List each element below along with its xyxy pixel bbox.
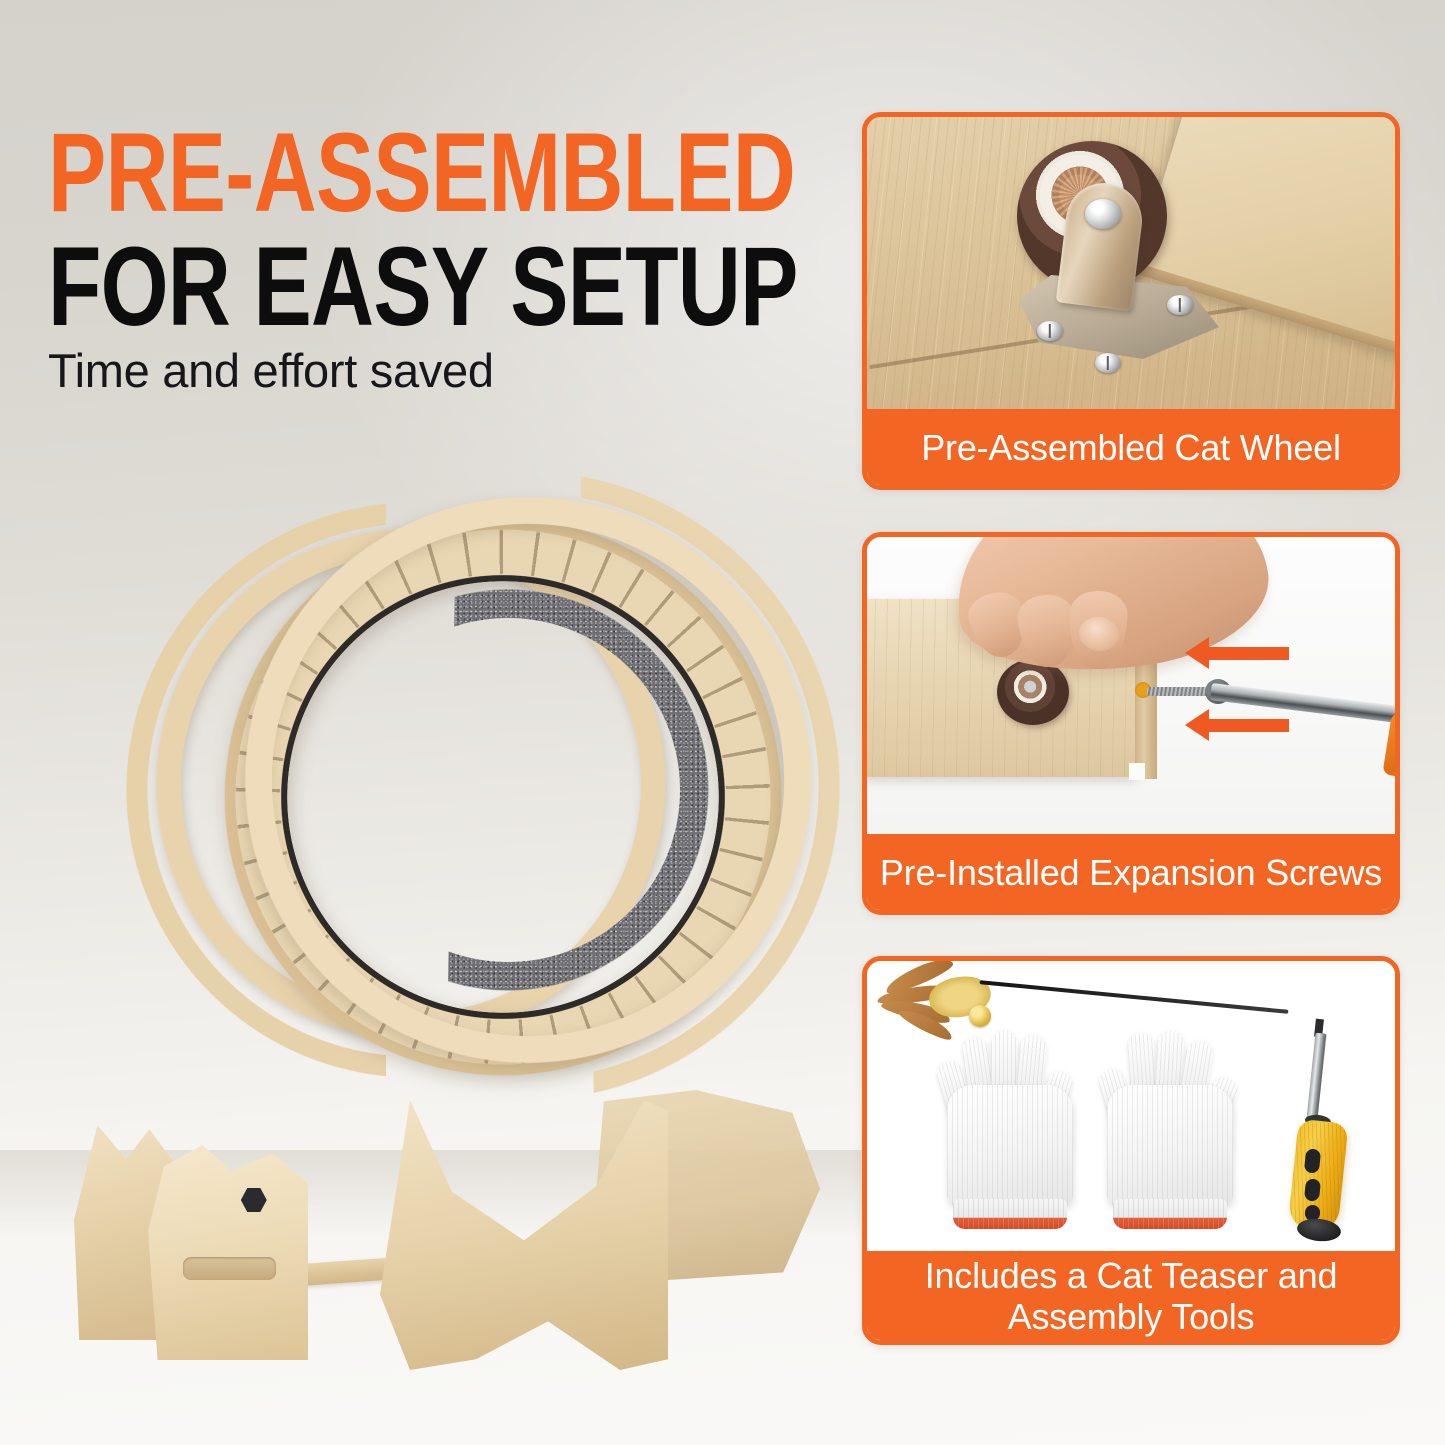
front-side-ring bbox=[198, 430, 858, 1130]
headline-line-2: FOR EASY SETUP bbox=[48, 232, 664, 342]
caption-line: Pre-Assembled Cat Wheel bbox=[921, 428, 1341, 468]
callout-card-cat-wheel: Pre-Assembled Cat Wheel bbox=[862, 112, 1400, 490]
work-glove-left bbox=[939, 1031, 1087, 1229]
expansion-screw-photo bbox=[867, 537, 1395, 834]
glove-cuff bbox=[953, 1199, 1067, 1229]
base-stand-mid bbox=[148, 1145, 308, 1360]
card-caption-accessories: Includes a Cat Teaser and Assembly Tools bbox=[867, 1251, 1395, 1342]
direction-arrow-icon bbox=[1207, 647, 1289, 660]
headline-subtitle: Time and effort saved bbox=[48, 343, 494, 398]
cat-exercise-wheel-photo bbox=[30, 400, 860, 1410]
direction-arrow-icon bbox=[1207, 719, 1289, 732]
headline-line-1: PRE-ASSEMBLED bbox=[48, 118, 664, 228]
card-caption-cat-wheel: Pre-Assembled Cat Wheel bbox=[867, 409, 1395, 487]
caption-line: Assembly Tools bbox=[925, 1297, 1338, 1337]
glove-cuff bbox=[1113, 1199, 1227, 1229]
hex-knob-icon bbox=[241, 1188, 267, 1212]
caption-line: Pre-Installed Expansion Screws bbox=[880, 853, 1382, 893]
mounting-screw bbox=[1095, 353, 1121, 373]
roller-wheel-icon bbox=[997, 659, 1069, 725]
screwdriver-shaft bbox=[1307, 1033, 1327, 1120]
glove-palm bbox=[1107, 1085, 1233, 1207]
phillips-screwdriver bbox=[1285, 1019, 1349, 1229]
work-glove-right bbox=[1099, 1031, 1247, 1229]
mounting-screw bbox=[1167, 295, 1193, 315]
accessories-photo bbox=[867, 961, 1395, 1251]
mounting-screw bbox=[1037, 321, 1063, 341]
card-caption-expansion-screws: Pre-Installed Expansion Screws bbox=[867, 834, 1395, 912]
product-marketing-image: PRE-ASSEMBLED FOR EASY SETUP Time and ef… bbox=[0, 0, 1445, 1445]
stand-slot bbox=[183, 1257, 276, 1281]
panel-notch bbox=[1129, 763, 1145, 780]
callout-card-accessories: Includes a Cat Teaser and Assembly Tools bbox=[862, 956, 1400, 1345]
headline-block: PRE-ASSEMBLED FOR EASY SETUP bbox=[48, 118, 838, 342]
glove-palm bbox=[947, 1085, 1073, 1207]
callout-card-expansion-screws: Pre-Installed Expansion Screws bbox=[862, 532, 1400, 915]
caster-axle-bolt bbox=[1085, 199, 1121, 229]
caster-wheel-photo bbox=[867, 117, 1395, 409]
caption-line: Includes a Cat Teaser and bbox=[925, 1256, 1338, 1296]
bell-icon bbox=[969, 1005, 991, 1027]
